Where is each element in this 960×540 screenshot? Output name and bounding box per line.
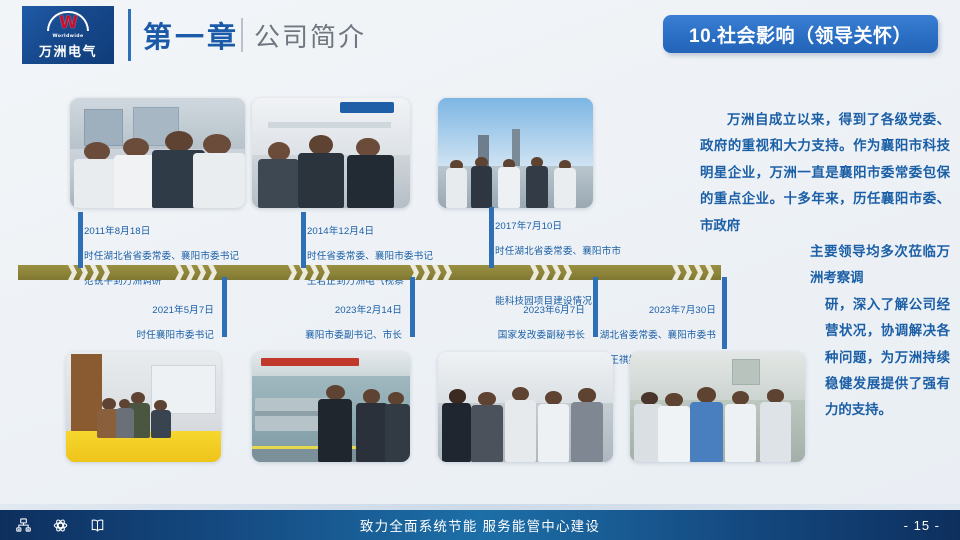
caption-line: 时任襄阳市委书记 [62, 330, 214, 343]
timeline-connector [489, 207, 494, 268]
timeline-connector [222, 277, 227, 337]
slide: W Worldwide 万洲电气 第一章 公司简介 10.社会影响（领导关怀） [0, 0, 960, 540]
photo-2014-visit [252, 98, 410, 208]
logo-english-name: Worldwide [52, 34, 83, 39]
footer-slogan: 致力全面系统节能 服务能管中心建设 [0, 515, 960, 535]
body-paragraph-wrap-1: 主要领导均多次莅临万洲考察调 [810, 239, 950, 292]
caption-date: 2023年2月14日 [245, 305, 402, 318]
body-paragraph: 万洲自成立以来，得到了各级党委、政府的重视和大力支持。作为襄阳市科技明星企业，万… [700, 107, 950, 424]
timeline-chevrons [175, 264, 221, 281]
caption-date: 2023年7月30日 [568, 305, 716, 318]
caption-line: 湖北省委常委、襄阳市委书 [568, 330, 716, 343]
timeline-connector [78, 212, 83, 268]
caption-date: 2021年5月7日 [62, 305, 214, 318]
body-paragraph-wrap-2: 研，深入了解公司经营状况，协调解决各种问题，为万洲持续稳健发展提供了强有力的支持… [825, 292, 950, 424]
caption-date: 2014年12月4日 [307, 226, 487, 239]
chapter-title: 第一章 [143, 14, 239, 56]
chapter-subtitle: 公司简介 [254, 17, 366, 54]
caption-date: 2023年6月7日 [430, 305, 585, 318]
caption-date: 2011年8月18日 [84, 226, 284, 239]
timeline-bar [18, 265, 721, 280]
timeline-chevrons [410, 264, 456, 281]
caption-top-2: 2014年12月4日 时任省委常委、襄阳市委书记 王君正到万洲电气视察 [307, 213, 487, 301]
timeline-chevrons [288, 264, 334, 281]
logo-letter: W [59, 15, 77, 32]
photo-2023-feb-visit [252, 352, 410, 462]
topic-badge-label: 10.社会影响（领导关怀） [689, 21, 912, 48]
logo-mark-icon: W [45, 11, 91, 33]
header-separator [128, 9, 131, 61]
chapter-divider [241, 18, 243, 52]
photo-2011-visit [70, 98, 245, 208]
photo-2021-visit [66, 352, 221, 462]
page-number: - 15 - [904, 518, 940, 533]
timeline-connector [410, 277, 415, 337]
caption-date: 2017年7月10日 [495, 221, 627, 234]
caption-top-1: 2011年8月18日 时任湖北省省委常委、襄阳市委书记 范锐平到万洲调研 [84, 213, 284, 301]
body-paragraph-main: 万洲自成立以来，得到了各级党委、政府的重视和大力支持。作为襄阳市科技明星企业，万… [700, 112, 950, 233]
topic-badge: 10.社会影响（领导关怀） [663, 15, 938, 53]
slide-header: W Worldwide 万洲电气 第一章 公司简介 10.社会影响（领导关怀） [0, 0, 960, 76]
caption-line: 时任省委常委、襄阳市委书记 [307, 251, 487, 264]
timeline-chevrons [68, 264, 114, 281]
timeline-chevrons [530, 264, 576, 281]
caption-line: 时任湖北省委常委、襄阳市市 [495, 246, 627, 259]
timeline-connector [301, 212, 306, 268]
logo-chinese-name: 万洲电气 [39, 41, 97, 60]
caption-line: 时任湖北省省委常委、襄阳市委书记 [84, 251, 284, 264]
caption-line: 襄阳市委副书记、市长 [245, 330, 402, 343]
caption-line: 国家发改委副秘书长 [430, 330, 585, 343]
slide-footer: 致力全面系统节能 服务能管中心建设 - 15 - [0, 510, 960, 540]
photo-2023-jun-visit [438, 352, 613, 462]
company-logo: W Worldwide 万洲电气 [22, 6, 114, 64]
photo-2017-visit [438, 98, 593, 208]
